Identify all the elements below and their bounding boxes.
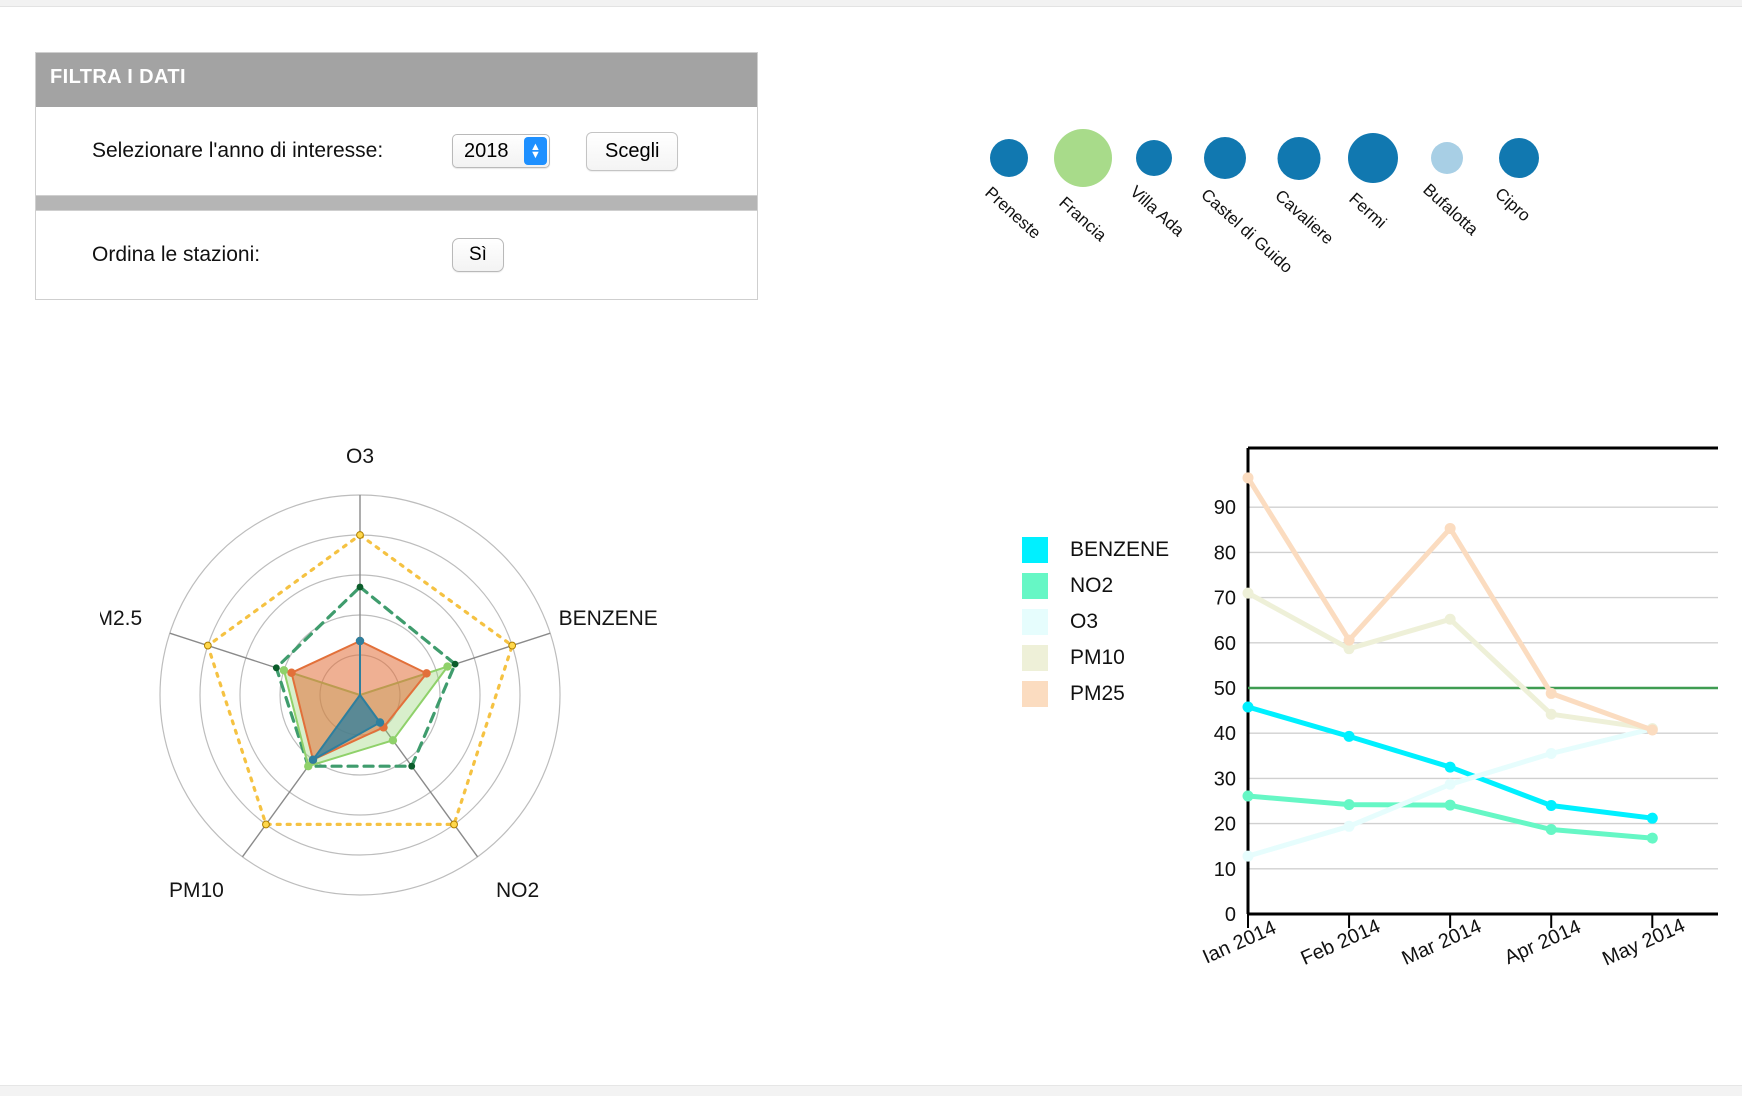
legend-item-benzene[interactable]: BENZENE	[1022, 532, 1169, 568]
top-window-strip	[0, 0, 1742, 7]
legend-swatch-icon	[1022, 609, 1048, 635]
choose-button[interactable]: Scegli	[586, 132, 678, 171]
panel-divider	[36, 195, 757, 211]
station-bubble-icon[interactable]	[1431, 142, 1463, 174]
bottom-window-strip	[0, 1085, 1742, 1096]
station-label: Cavaliere	[1271, 186, 1338, 249]
filter-panel: FILTRA I DATI Selezionare l'anno di inte…	[35, 52, 758, 300]
legend-item-o3[interactable]: O3	[1022, 604, 1169, 640]
legend-swatch-icon	[1022, 573, 1048, 599]
y-axis-tick: 0	[1225, 904, 1236, 926]
station-bubble-icon[interactable]	[1499, 138, 1539, 178]
legend-label: O3	[1070, 610, 1098, 634]
line-chart-panel: BENZENENO2O3PM10PM25 0102030405060708090…	[1000, 440, 1742, 1000]
station-label: Cipro	[1491, 184, 1535, 226]
year-filter-row: Selezionare l'anno di interesse: 2018 ▲▼…	[36, 107, 757, 195]
sort-filter-label: Ordina le stazioni:	[92, 243, 452, 267]
radar-axis-label: PM10	[169, 879, 224, 902]
filter-panel-title: FILTRA I DATI	[36, 53, 757, 107]
station-bubble-icon[interactable]	[1136, 140, 1172, 176]
x-axis-tick: Feb 2014	[1298, 915, 1384, 969]
y-axis-tick: 30	[1214, 768, 1236, 790]
line-chart-svg: 0102030405060708090Ian 2014Feb 2014Mar 2…	[1190, 440, 1742, 1000]
sort-filter-row: Ordina le stazioni: Sì	[36, 211, 757, 299]
station-bubble-icon[interactable]	[990, 139, 1028, 177]
radar-axis-label: BENZENE	[559, 607, 658, 630]
radar-axis-label: O3	[346, 445, 374, 468]
legend-swatch-icon	[1022, 681, 1048, 707]
station-label: Francia	[1055, 193, 1111, 246]
legend-item-no2[interactable]: NO2	[1022, 568, 1169, 604]
radar-chart-svg: O3BENZENENO2PM10PM2.5	[100, 415, 740, 960]
station-bubble-icon[interactable]	[1277, 137, 1320, 180]
year-select[interactable]: 2018 ▲▼	[452, 134, 550, 168]
legend-label: BENZENE	[1070, 538, 1169, 562]
station-label: Preneste	[981, 183, 1045, 243]
legend-swatch-icon	[1022, 645, 1048, 671]
y-axis-tick: 80	[1214, 542, 1236, 564]
legend-label: PM25	[1070, 682, 1125, 706]
chevron-updown-icon[interactable]: ▲▼	[524, 137, 547, 165]
x-axis-tick: May 2014	[1599, 915, 1688, 971]
line-chart-legend: BENZENENO2O3PM10PM25	[1022, 532, 1169, 712]
station-bubble-icon[interactable]	[1204, 137, 1246, 179]
y-axis-tick: 60	[1214, 633, 1236, 655]
legend-swatch-icon	[1022, 537, 1048, 563]
legend-item-pm10[interactable]: PM10	[1022, 640, 1169, 676]
x-axis-tick: Ian 2014	[1200, 917, 1280, 969]
station-label: Villa Ada	[1126, 182, 1188, 241]
radar-axis-label: NO2	[496, 879, 539, 902]
legend-item-pm25[interactable]: PM25	[1022, 676, 1169, 712]
station-bubble-row: PrenesteFranciaVilla AdaCastel di GuidoC…	[960, 128, 1742, 278]
radar-chart: O3BENZENENO2PM10PM2.5	[100, 415, 740, 960]
year-filter-label: Selezionare l'anno di interesse:	[92, 139, 452, 163]
station-bubble-icon[interactable]	[1054, 129, 1112, 187]
station-label: Bufalotta	[1419, 180, 1482, 240]
station-label: Fermi	[1345, 189, 1391, 233]
y-axis-tick: 50	[1214, 678, 1236, 700]
year-select-value: 2018	[453, 140, 509, 163]
station-bubble-icon[interactable]	[1348, 133, 1398, 183]
legend-label: PM10	[1070, 646, 1125, 670]
y-axis-tick: 40	[1214, 723, 1236, 745]
legend-label: NO2	[1070, 574, 1113, 598]
sort-toggle-button[interactable]: Sì	[452, 238, 504, 272]
y-axis-tick: 70	[1214, 588, 1236, 610]
x-axis-tick: Apr 2014	[1501, 916, 1584, 969]
y-axis-tick: 10	[1214, 859, 1236, 881]
y-axis-tick: 20	[1214, 814, 1236, 836]
y-axis-tick: 90	[1214, 497, 1236, 519]
radar-axis-label: PM2.5	[100, 607, 142, 630]
x-axis-tick: Mar 2014	[1399, 915, 1485, 969]
